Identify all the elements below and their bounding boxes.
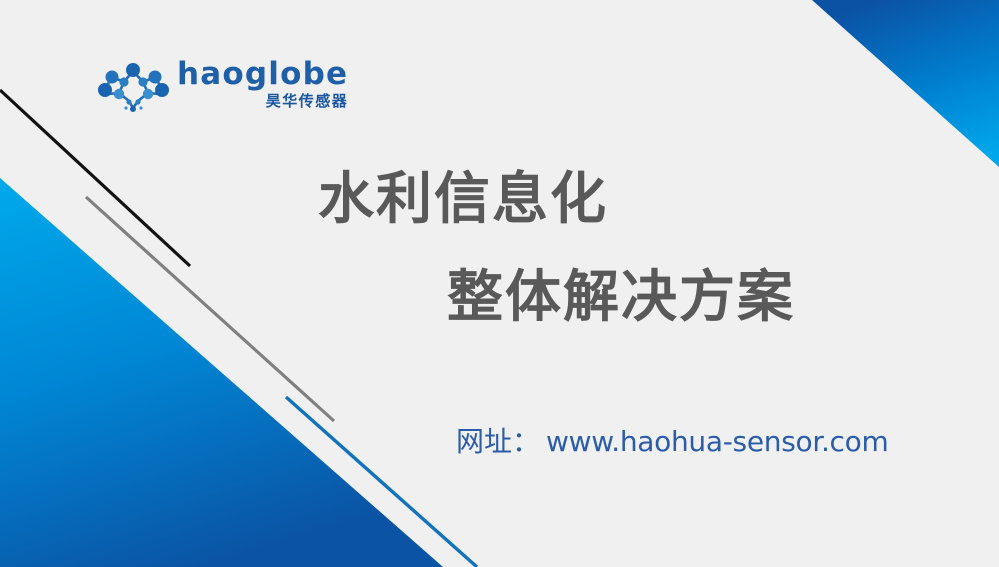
website-url[interactable]: www.haohua-sensor.com [546,425,888,458]
haoglobe-molecule-mark [97,61,169,113]
website-line: 网址： www.haohua-sensor.com [456,420,888,460]
top-right-triangle [812,0,999,167]
company-logo: haoglobe 昊华传感器 [97,57,322,119]
logo-wordmark: haoglobe [177,57,348,91]
left-bottom-triangle [0,178,443,567]
gray-diagonal-line [86,197,334,421]
blue-diagonal-line [286,397,477,567]
logo-text-block: haoglobe 昊华传感器 [177,57,348,110]
website-label: 网址： [456,420,540,460]
logo-subtitle: 昊华传感器 [266,92,349,110]
title-line-2: 整体解决方案 [447,265,795,331]
title-line-1: 水利信息化 [318,167,608,233]
slide-canvas: haoglobe 昊华传感器 水利信息化 整体解决方案 网址： www.haoh… [0,0,999,567]
